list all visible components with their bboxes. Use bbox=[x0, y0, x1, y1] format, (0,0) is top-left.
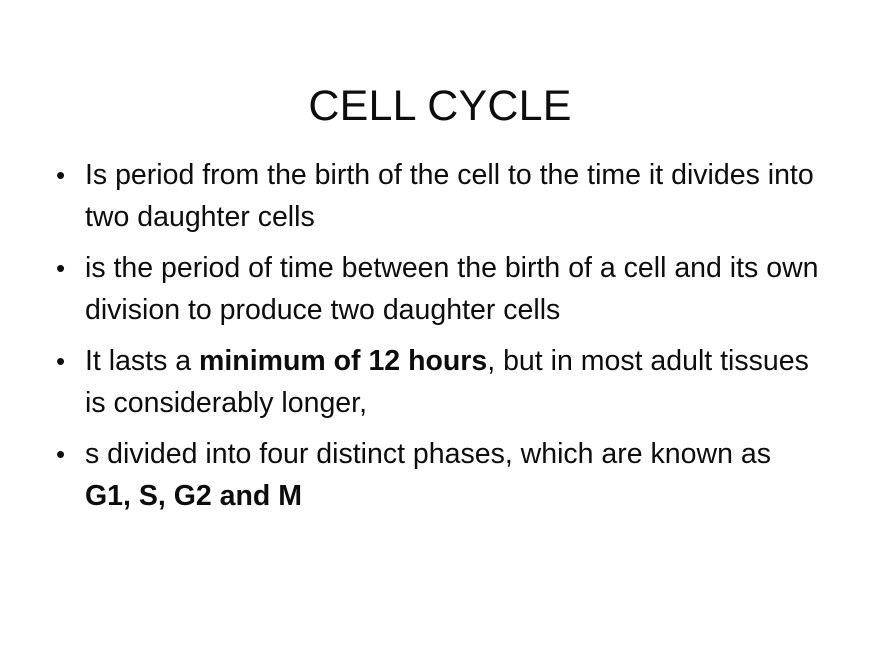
list-item-text: s divided into four distinct phases, whi… bbox=[85, 433, 820, 517]
emphasis-text: G1, S, G2 and M bbox=[85, 480, 302, 512]
list-item: •It lasts a minimum of 12 hours, but in … bbox=[52, 340, 820, 424]
bullet-point-icon: • bbox=[56, 340, 76, 382]
body-text: It lasts a bbox=[85, 345, 199, 377]
presentation-slide: CELL CYCLE •Is period from the birth of … bbox=[0, 0, 880, 660]
list-item: •s divided into four distinct phases, wh… bbox=[52, 433, 820, 517]
body-text: s divided into four distinct phases, whi… bbox=[85, 438, 771, 470]
bullet-point-icon: • bbox=[56, 433, 76, 475]
body-text: is the period of time between the birth … bbox=[85, 252, 819, 326]
list-item-text: is the period of time between the birth … bbox=[85, 247, 820, 331]
list-item-text: Is period from the birth of the cell to … bbox=[85, 154, 820, 238]
list-item: •Is period from the birth of the cell to… bbox=[52, 154, 820, 238]
body-text: Is period from the birth of the cell to … bbox=[85, 159, 814, 233]
bullet-point-icon: • bbox=[56, 154, 76, 196]
page-title: CELL CYCLE bbox=[0, 85, 880, 128]
bullet-list: •Is period from the birth of the cell to… bbox=[52, 154, 820, 517]
bullet-point-icon: • bbox=[56, 247, 76, 289]
list-item-text: It lasts a minimum of 12 hours, but in m… bbox=[85, 340, 820, 424]
list-item: •is the period of time between the birth… bbox=[52, 247, 820, 331]
emphasis-text: minimum of 12 hours bbox=[199, 345, 487, 377]
